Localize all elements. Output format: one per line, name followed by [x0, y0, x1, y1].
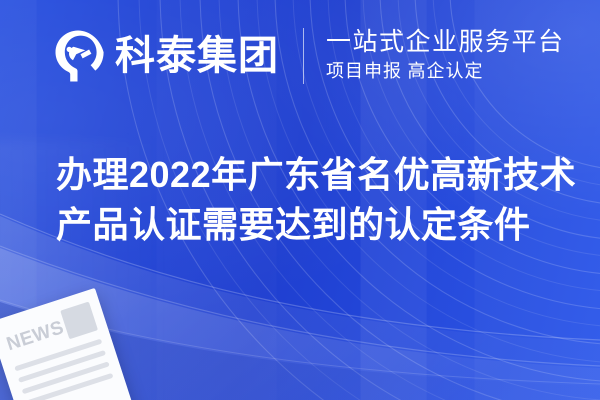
tagline-sub: 项目申报 高企认定: [326, 59, 565, 83]
page-title-line-2: 产品认证需要达到的认定条件: [56, 200, 556, 250]
banner-header: 科泰集团 一站式企业服务平台 项目申报 高企认定: [50, 28, 565, 84]
page-title-line-1: 办理2022年广东省名优高新技术: [56, 150, 556, 200]
page-title: 办理2022年广东省名优高新技术 产品认证需要达到的认定条件: [56, 150, 556, 250]
news-card-heading: NEWS: [2, 311, 68, 355]
tagline-main: 一站式企业服务平台: [326, 29, 565, 56]
brand-name: 科泰集团: [115, 36, 279, 76]
tagline-block: 一站式企业服务平台 项目申报 高企认定: [326, 29, 565, 83]
header-divider: [303, 28, 304, 84]
ketai-circle-logo-icon: [50, 28, 106, 84]
article-banner: 科泰集团 一站式企业服务平台 项目申报 高企认定 办理2022年广东省名优高新技…: [0, 0, 600, 400]
